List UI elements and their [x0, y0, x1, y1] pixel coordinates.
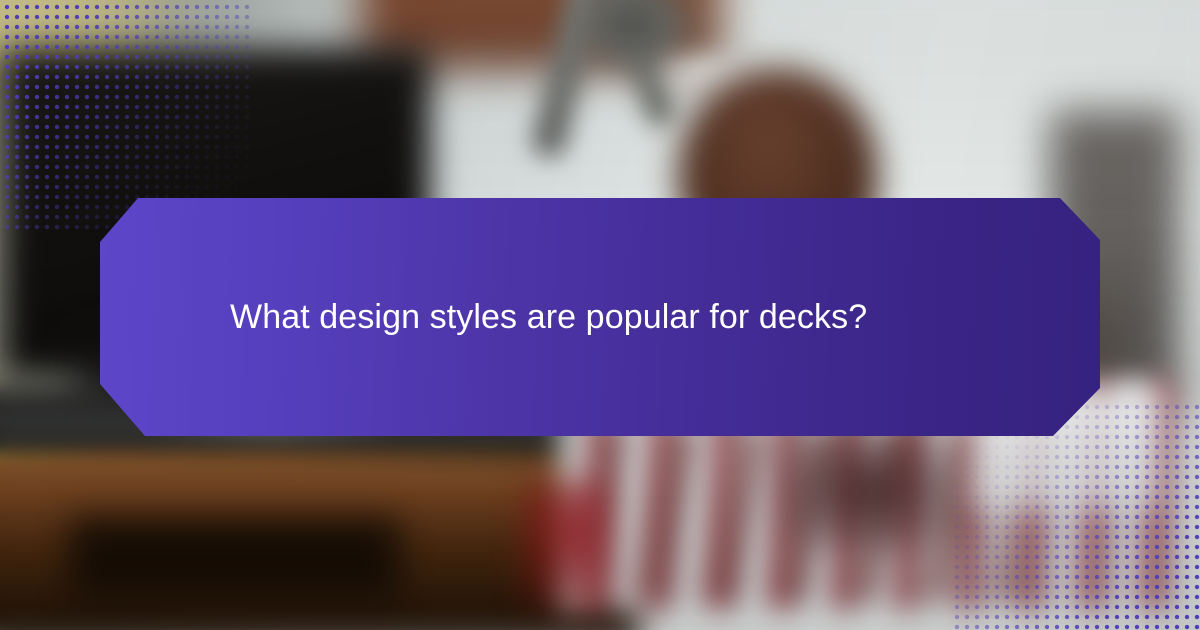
page-title: What design styles are popular for decks…	[100, 296, 927, 339]
title-banner: What design styles are popular for decks…	[100, 198, 1100, 436]
hero-banner-image: What design styles are popular for decks…	[0, 0, 1200, 630]
